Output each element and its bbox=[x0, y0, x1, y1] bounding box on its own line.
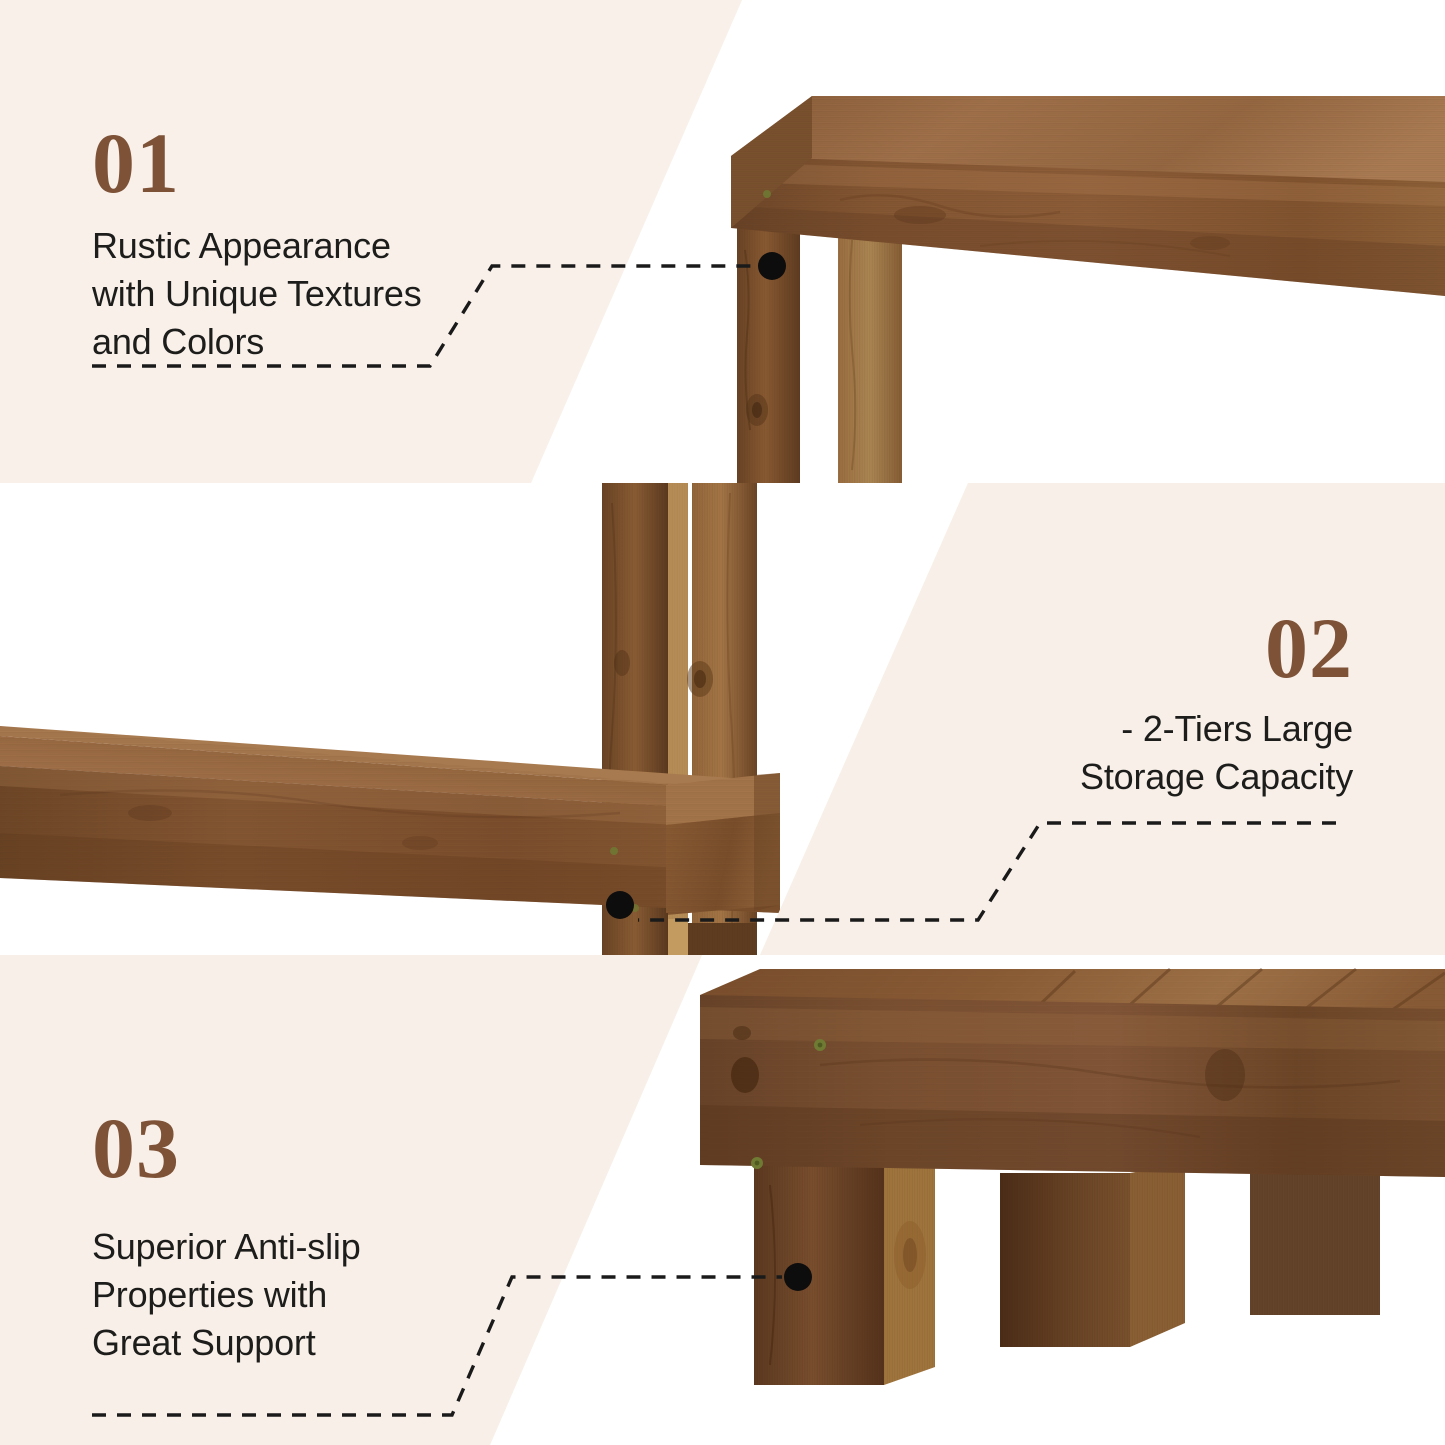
panel-2-number: 02 bbox=[1265, 605, 1353, 691]
panel-3-number: 03 bbox=[92, 1105, 180, 1191]
infographic-sheet: 01 Rustic Appearance with Unique Texture… bbox=[0, 0, 1445, 1445]
panel-1-headline: Rustic Appearance with Unique Textures a… bbox=[92, 222, 492, 366]
feature-panel-3: 03 Superior Anti-slip Properties with Gr… bbox=[0, 955, 1445, 1445]
panel-3-headline: Superior Anti-slip Properties with Great… bbox=[92, 1223, 492, 1367]
panel-2-headline: - 2-Tiers Large Storage Capacity bbox=[933, 705, 1353, 801]
feature-panel-2: 02 - 2-Tiers Large Storage Capacity bbox=[0, 483, 1445, 955]
feature-panel-1: 01 Rustic Appearance with Unique Texture… bbox=[0, 0, 1445, 483]
panel-1-number: 01 bbox=[92, 120, 180, 206]
panel-3-tint-wedge bbox=[0, 955, 1445, 1445]
